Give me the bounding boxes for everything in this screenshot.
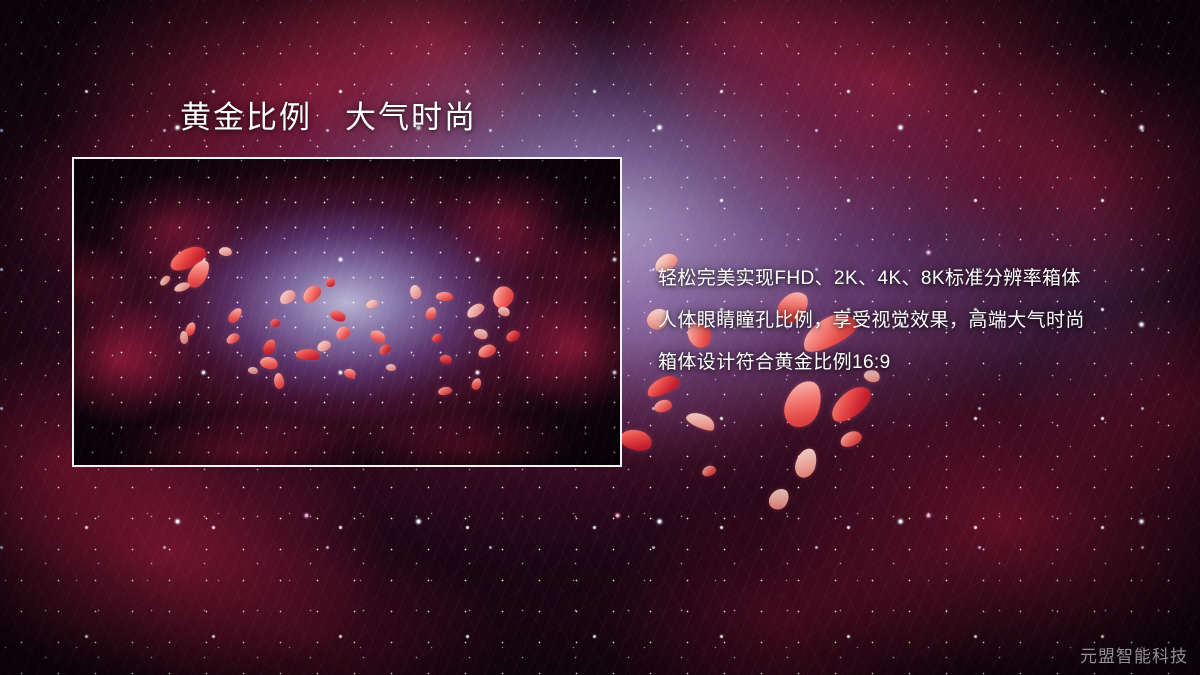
flower-petal (334, 325, 351, 341)
flower-petal (218, 246, 233, 258)
flower-petal (439, 353, 453, 366)
flower-petal (408, 283, 423, 300)
flower-petal (378, 343, 393, 356)
company-watermark: 元盟智能科技 (1080, 642, 1188, 667)
flower-petal (438, 386, 453, 395)
flower-petal (300, 283, 324, 306)
feature-description: 轻松完美实现FHD、2K、4K、8K标准分辨率箱体 人体眼睛瞳孔比例，享受视觉效… (658, 258, 1158, 384)
flower-petal (471, 377, 483, 391)
flower-petal (424, 306, 437, 321)
flower-petal (247, 366, 259, 376)
flower-petal (277, 288, 298, 307)
preview-image (74, 159, 620, 465)
flower-petal (269, 318, 280, 327)
flower-petal (385, 363, 396, 372)
flower-petal (365, 299, 379, 310)
preview-petal-layer (74, 159, 620, 465)
flower-petal (684, 408, 717, 434)
flower-petal (173, 281, 191, 293)
flower-petal (329, 308, 348, 324)
description-line-3: 箱体设计符合黄金比例16:9 (658, 342, 1158, 384)
flower-petal (701, 464, 717, 477)
flower-petal (825, 381, 876, 427)
flower-petal (793, 446, 820, 480)
flower-petal (225, 332, 241, 346)
flower-petal (618, 426, 655, 455)
flower-petal (226, 306, 244, 326)
flower-petal (477, 343, 498, 359)
flower-petal (272, 372, 285, 390)
flower-petal (368, 327, 387, 345)
flower-petal (262, 338, 278, 357)
flower-petal (653, 399, 673, 414)
flower-petal (431, 333, 442, 343)
flower-petal (766, 485, 792, 513)
flower-petal (473, 327, 490, 342)
flower-petal (465, 301, 487, 320)
flower-petal (436, 291, 454, 302)
flower-petal (158, 274, 172, 287)
flower-petal (316, 339, 332, 353)
flower-petal (343, 367, 358, 381)
flower-petal (497, 305, 512, 318)
flower-petal (505, 329, 522, 343)
description-line-2: 人体眼睛瞳孔比例，享受视觉效果，高端大气时尚 (658, 300, 1158, 342)
description-line-1: 轻松完美实现FHD、2K、4K、8K标准分辨率箱体 (658, 258, 1158, 300)
flower-petal (779, 376, 826, 432)
preview-image-frame[interactable] (72, 157, 622, 467)
flower-petal (259, 355, 280, 372)
presentation-slide: 黄金比例 大气时尚 轻松完美实现FHD、2K、4K、8K标准分辨率箱体 人体眼睛… (0, 0, 1200, 675)
page-title: 黄金比例 大气时尚 (180, 101, 477, 136)
flower-petal (326, 278, 335, 287)
flower-petal (838, 429, 863, 449)
